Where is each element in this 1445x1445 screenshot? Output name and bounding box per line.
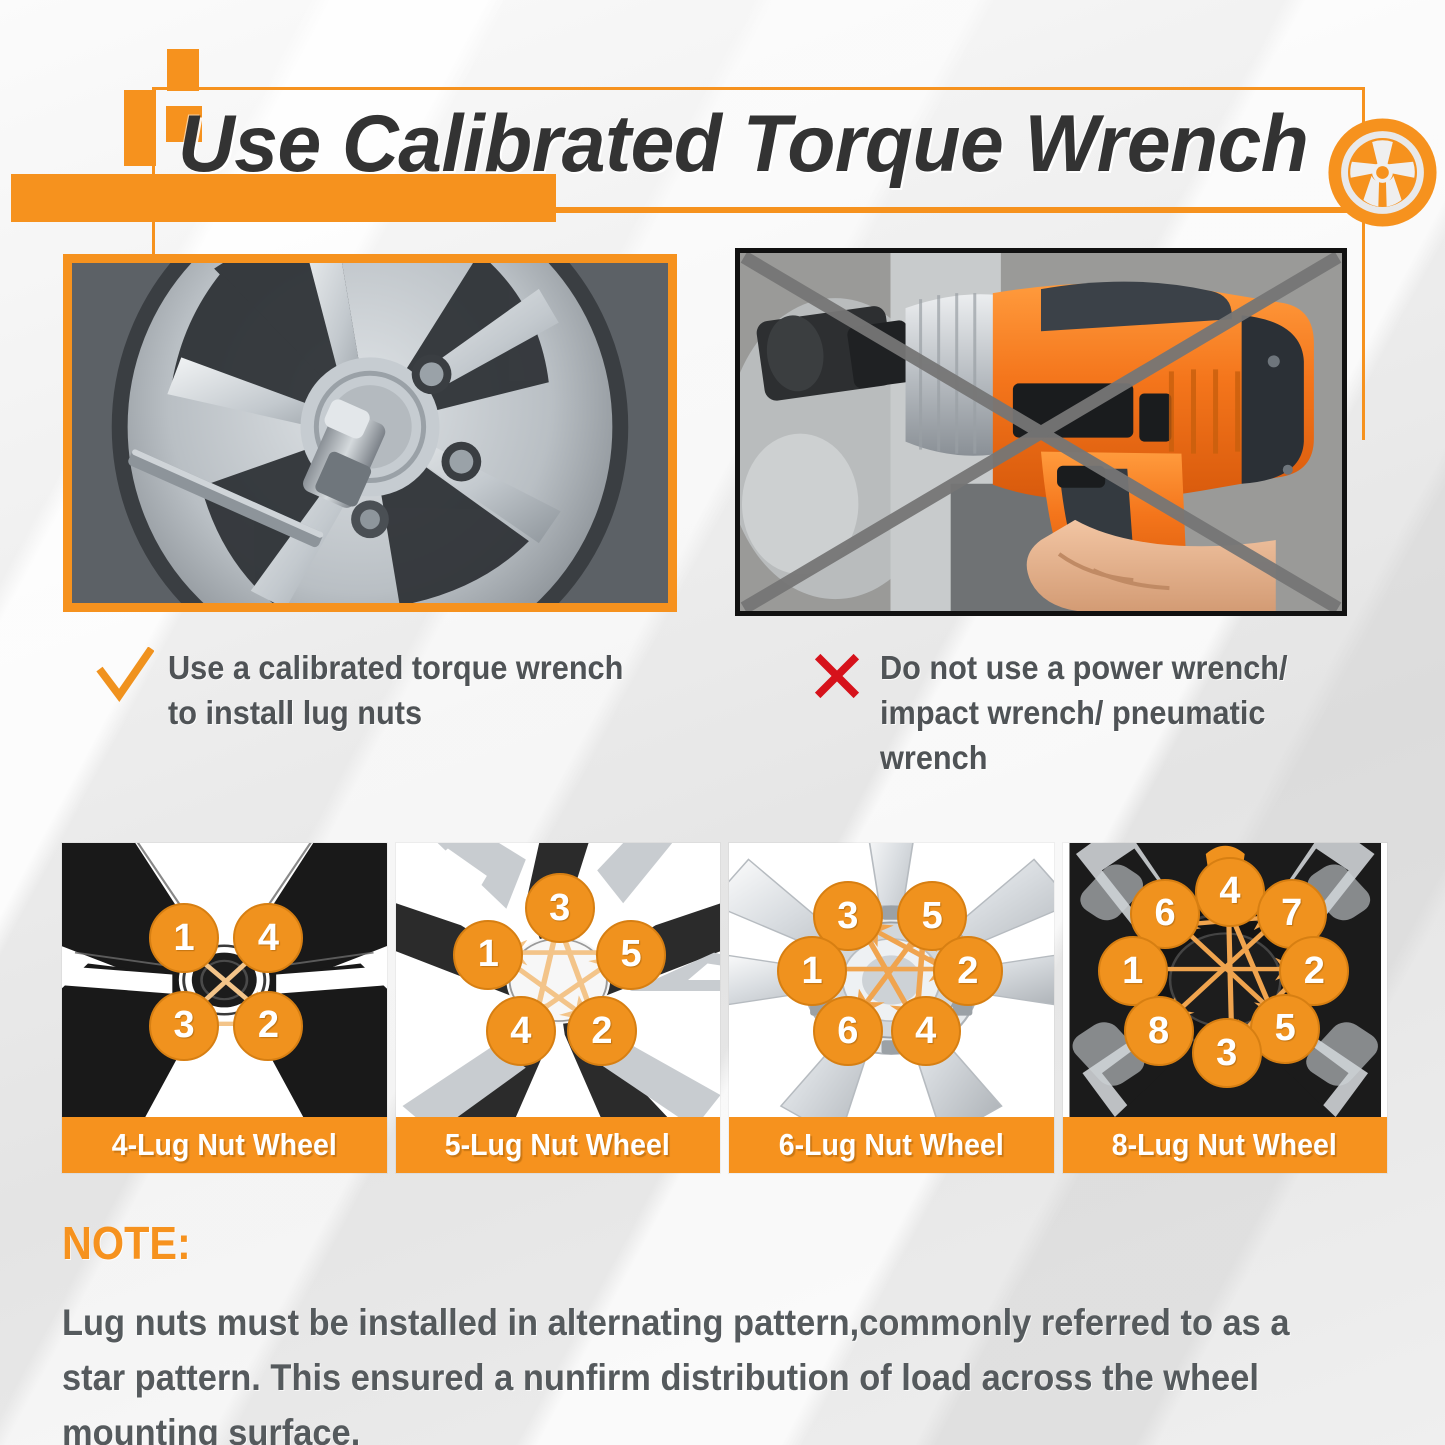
- pattern-label-8lug: 8-Lug Nut Wheel: [1063, 1117, 1388, 1173]
- lug-node-1: 1: [777, 936, 847, 1006]
- pattern-nodes-8lug: 46712853: [1063, 843, 1388, 1117]
- pattern-panel-5lug: 31542 5-Lug Nut Wheel: [396, 843, 721, 1173]
- lug-node-5: 5: [596, 920, 666, 990]
- header-accent-rule: [556, 207, 1351, 213]
- lug-node-4: 4: [891, 996, 961, 1066]
- pattern-label-6lug: 6-Lug Nut Wheel: [729, 1117, 1054, 1173]
- lug-node-8: 8: [1124, 996, 1194, 1066]
- lug-node-6: 6: [813, 996, 883, 1066]
- header-accent-bar: [11, 174, 556, 222]
- lug-node-2: 2: [567, 996, 637, 1066]
- cross-icon: [808, 647, 866, 705]
- header-deco-square-left: [124, 90, 156, 166]
- header-deco-square-top: [167, 49, 199, 91]
- bad-practice-caption-text: Do not use a power wrench/ impact wrench…: [880, 645, 1288, 781]
- good-practice-caption: Use a calibrated torque wrench to instal…: [96, 645, 696, 735]
- lug-node-1: 1: [149, 903, 219, 973]
- lug-node-3: 3: [525, 873, 595, 943]
- lug-node-4: 4: [1195, 857, 1265, 927]
- pattern-nodes-5lug: 31542: [396, 843, 721, 1117]
- pattern-nodes-4lug: 1432: [62, 843, 387, 1117]
- note-body: Lug nuts must be installed in alternatin…: [62, 1296, 1308, 1445]
- lug-node-4: 4: [486, 996, 556, 1066]
- note-title: NOTE:: [62, 1216, 191, 1270]
- pattern-label-text: 4-Lug Nut Wheel: [112, 1127, 337, 1163]
- lug-node-4: 4: [233, 903, 303, 973]
- lug-node-1: 1: [453, 920, 523, 990]
- pattern-panel-8lug: 46712853 8-Lug Nut Wheel: [1063, 843, 1388, 1173]
- pattern-panel-4lug: 1432 4-Lug Nut Wheel: [62, 843, 387, 1173]
- pattern-label-text: 6-Lug Nut Wheel: [779, 1127, 1004, 1163]
- lug-node-3: 3: [1192, 1018, 1262, 1088]
- lug-node-3: 3: [149, 991, 219, 1061]
- wheel-icon: [1325, 115, 1440, 230]
- good-practice-caption-text: Use a calibrated torque wrench to instal…: [168, 645, 623, 735]
- lug-node-2: 2: [933, 936, 1003, 1006]
- lug-node-2: 2: [233, 991, 303, 1061]
- pattern-label-text: 8-Lug Nut Wheel: [1112, 1127, 1337, 1163]
- bad-practice-caption: Do not use a power wrench/ impact wrench…: [808, 645, 1348, 781]
- pattern-label-5lug: 5-Lug Nut Wheel: [396, 1117, 721, 1173]
- pattern-panel-6lug: 351264 6-Lug Nut Wheel: [729, 843, 1054, 1173]
- lug-pattern-panels: 1432 4-Lug Nut Wheel: [62, 843, 1387, 1173]
- infographic-page: Use Calibrated Torque Wrench: [0, 0, 1445, 1445]
- checkmark-icon: [96, 647, 154, 705]
- pattern-label-text: 5-Lug Nut Wheel: [445, 1127, 670, 1163]
- pattern-nodes-6lug: 351264: [729, 843, 1054, 1117]
- bad-practice-photo: [735, 248, 1347, 616]
- good-practice-photo: [63, 254, 677, 612]
- pattern-label-4lug: 4-Lug Nut Wheel: [62, 1117, 387, 1173]
